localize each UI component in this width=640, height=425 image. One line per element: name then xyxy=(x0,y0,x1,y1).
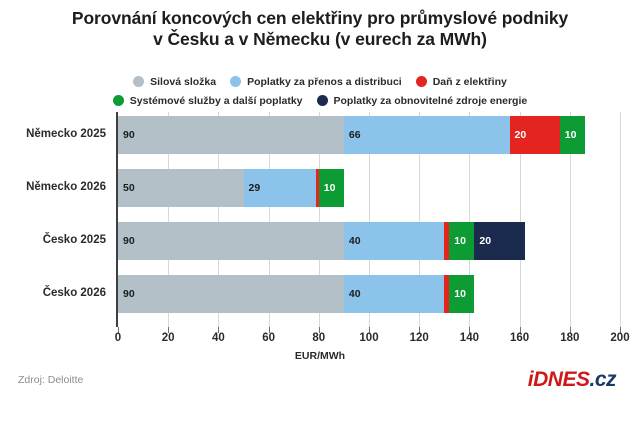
bar-segment-value: 20 xyxy=(510,129,527,141)
legend-swatch-icon xyxy=(113,95,124,106)
x-axis-tick-label: 100 xyxy=(359,332,378,344)
chart-title-line-2: v Česku a v Německu (v eurech za MWh) xyxy=(0,29,640,50)
idnes-logo: iDNES.cz xyxy=(528,368,616,392)
bar-segment-value: 40 xyxy=(344,235,361,247)
source-note: Zdroj: Deloitte xyxy=(18,374,83,386)
legend-row-2: Systémové služby a další poplatkyPoplatk… xyxy=(0,91,640,110)
bar-segment: 10 xyxy=(560,116,585,154)
bar-segment-value: 40 xyxy=(344,288,361,300)
x-axis-tick-label: 120 xyxy=(410,332,429,344)
x-axis-tick-label: 60 xyxy=(262,332,275,344)
bar-segment: 90 xyxy=(118,275,344,313)
bar-segment-value: 10 xyxy=(560,129,577,141)
chart-title: Porovnání koncových cen elektřiny pro pr… xyxy=(0,8,640,50)
legend-swatch-icon xyxy=(230,76,241,87)
bar-segment: 40 xyxy=(344,275,444,313)
bar-segment-value: 10 xyxy=(449,288,466,300)
bar-segment: 10 xyxy=(449,222,474,260)
bar-row: 90662010 xyxy=(118,116,620,154)
bar-segment-value: 66 xyxy=(344,129,361,141)
bar-segment-value: 90 xyxy=(118,288,135,300)
category-label: Německo 2025 xyxy=(26,128,106,140)
bar-row: 502910 xyxy=(118,169,620,207)
logo-text-dnes: DNES xyxy=(533,368,589,391)
legend-item-label: Systémové služby a další poplatky xyxy=(130,95,303,107)
bar-segment-value: 10 xyxy=(319,182,336,194)
bar-segment: 10 xyxy=(449,275,474,313)
x-axis-tick-label: 160 xyxy=(510,332,529,344)
x-axis-tick-label: 40 xyxy=(212,332,225,344)
plot-area: Německo 2025Německo 2026Česko 2025Česko … xyxy=(0,112,640,327)
x-axis: 020406080100120140160180200 xyxy=(118,327,620,349)
bar-segment: 10 xyxy=(319,169,344,207)
bar-segment: 20 xyxy=(474,222,524,260)
bar-segment-value: 10 xyxy=(449,235,466,247)
chart-title-line-1: Porovnání koncových cen elektřiny pro pr… xyxy=(0,8,640,29)
legend-swatch-icon xyxy=(416,76,427,87)
x-axis-title: EUR/MWh xyxy=(0,350,640,362)
bar-segment: 90 xyxy=(118,116,344,154)
bar-segment-value: 50 xyxy=(118,182,135,194)
bar-row: 90401020 xyxy=(118,222,620,260)
bar-segment: 90 xyxy=(118,222,344,260)
legend-item: Systémové služby a další poplatky xyxy=(113,95,303,107)
x-axis-tick-label: 140 xyxy=(460,332,479,344)
category-axis-labels: Německo 2025Německo 2026Česko 2025Česko … xyxy=(0,112,112,327)
legend-item-label: Poplatky za přenos a distribuci xyxy=(247,76,402,88)
bar-segment: 20 xyxy=(510,116,560,154)
legend-item-label: Silová složka xyxy=(150,76,216,88)
category-label: Česko 2025 xyxy=(43,234,106,246)
legend-item-label: Daň z elektřiny xyxy=(433,76,507,88)
bar-segment-value: 20 xyxy=(474,235,491,247)
legend-item: Poplatky za přenos a distribuci xyxy=(230,76,402,88)
legend-swatch-icon xyxy=(317,95,328,106)
legend-item: Daň z elektřiny xyxy=(416,76,507,88)
bar-segment: 50 xyxy=(118,169,244,207)
bars-canvas: 9066201050291090401020904010 xyxy=(118,112,620,327)
bar-segment-value: 29 xyxy=(244,182,261,194)
gridline xyxy=(620,112,621,327)
bar-segment-value: 90 xyxy=(118,129,135,141)
x-axis-tick-label: 0 xyxy=(115,332,121,344)
bar-segment: 29 xyxy=(244,169,317,207)
bar-segment: 40 xyxy=(344,222,444,260)
bar-segment: 66 xyxy=(344,116,510,154)
legend-item: Poplatky za obnovitelné zdroje energie xyxy=(317,95,528,107)
logo-text-cz: cz xyxy=(595,368,616,391)
x-axis-tick-label: 200 xyxy=(610,332,629,344)
legend-row-1: Silová složkaPoplatky za přenos a distri… xyxy=(0,72,640,91)
legend-item-label: Poplatky za obnovitelné zdroje energie xyxy=(334,95,528,107)
bar-row: 904010 xyxy=(118,275,620,313)
infographic-root: Porovnání koncových cen elektřiny pro pr… xyxy=(0,0,640,425)
bar-segment-value: 90 xyxy=(118,235,135,247)
x-axis-tick-label: 80 xyxy=(312,332,325,344)
category-label: Německo 2026 xyxy=(26,181,106,193)
x-axis-tick-label: 180 xyxy=(560,332,579,344)
category-label: Česko 2026 xyxy=(43,287,106,299)
x-axis-tick-label: 20 xyxy=(162,332,175,344)
chart-legend: Silová složkaPoplatky za přenos a distri… xyxy=(0,72,640,110)
legend-swatch-icon xyxy=(133,76,144,87)
legend-item: Silová složka xyxy=(133,76,216,88)
